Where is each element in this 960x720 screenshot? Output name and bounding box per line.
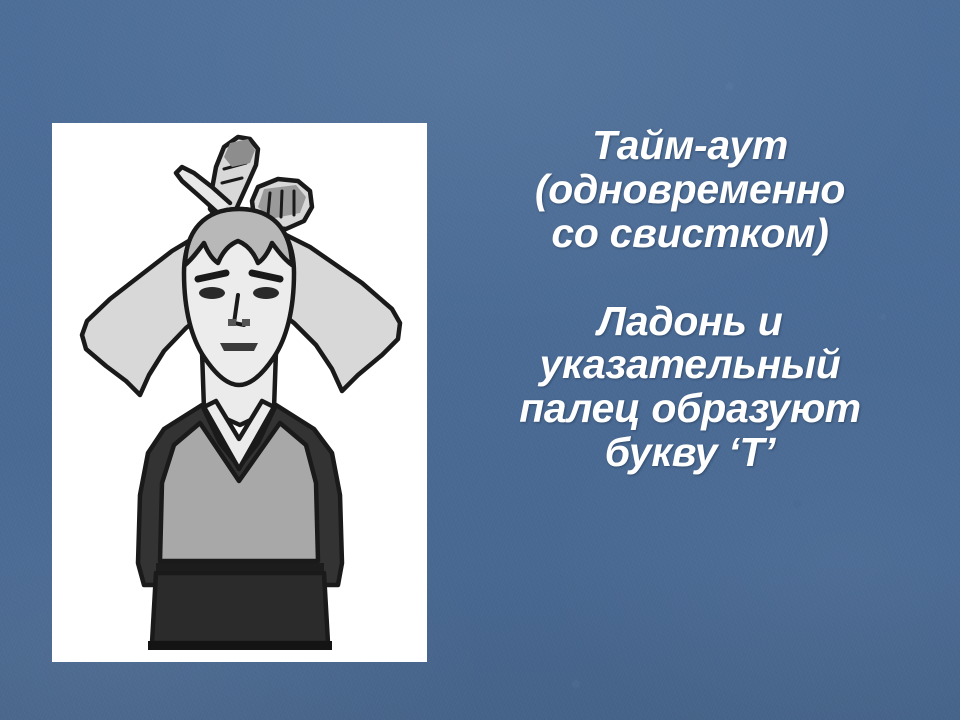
signal-description: Ладонь и указательный палец образуют бук… <box>430 300 950 475</box>
description-line-1: Ладонь и <box>430 300 950 344</box>
slide-canvas: Тайм-аут (одновременно со свистком) Ладо… <box>0 0 960 720</box>
title-line-2: (одновременно <box>430 168 950 212</box>
referee-image-panel <box>52 123 427 662</box>
title-line-1: Тайм-аут <box>430 124 950 168</box>
referee-timeout-signal-illustration <box>52 123 427 662</box>
description-line-2: указательный <box>430 343 950 387</box>
description-line-4: букву ‘Т’ <box>430 431 950 475</box>
title-line-3: со свистком) <box>430 212 950 256</box>
text-spacer <box>430 256 950 300</box>
description-line-3: палец образуют <box>430 387 950 431</box>
slide-text-column: Тайм-аут (одновременно со свистком) Ладо… <box>430 124 950 475</box>
signal-title: Тайм-аут (одновременно со свистком) <box>430 124 950 256</box>
